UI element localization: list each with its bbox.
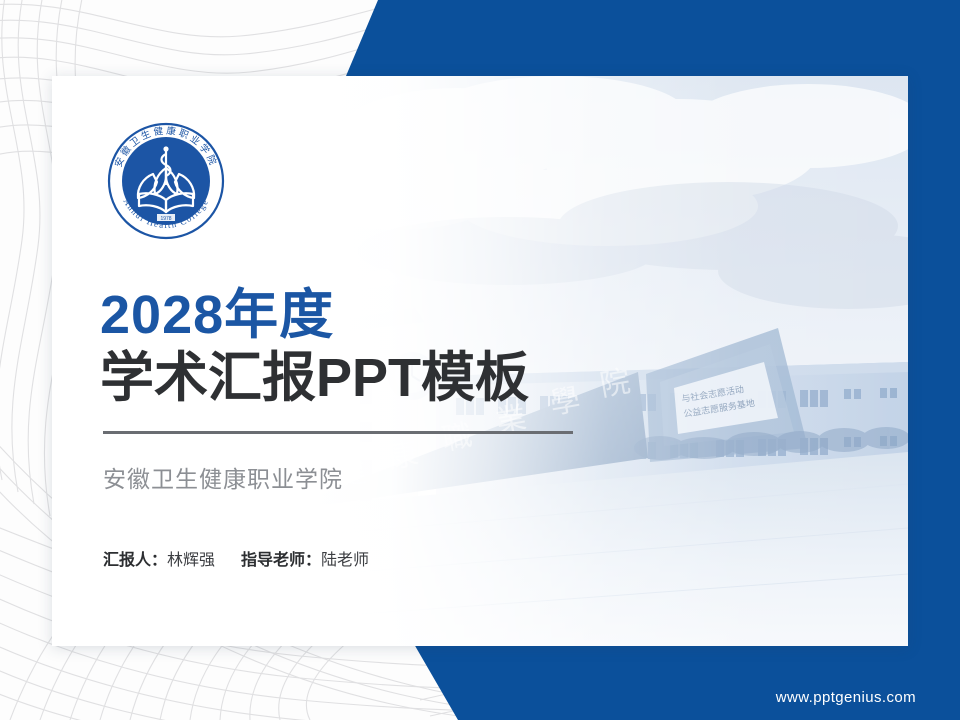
title-divider-rule xyxy=(103,431,573,434)
college-logo: 安徽卫生健康职业学院 Anhui Health College xyxy=(105,120,227,242)
advisor-name: 陆老师 xyxy=(321,552,369,569)
bottom-blue-band xyxy=(414,644,960,720)
presentation-slide: 健 康 職 業 學 院 与社会志愿活动 公益志愿服务基地 xyxy=(0,0,960,720)
right-blue-column xyxy=(908,0,960,720)
advisor-label: 指导老师： xyxy=(241,552,321,569)
svg-text:1978: 1978 xyxy=(160,216,171,222)
title-main: 学术汇报PPT模板 xyxy=(100,348,573,408)
presenter-meta-line: 汇报人：林辉强指导老师：陆老师 xyxy=(103,546,573,570)
top-blue-band xyxy=(346,0,960,76)
presenter-name: 林辉强 xyxy=(167,552,215,569)
title-year: 2028年度 xyxy=(100,286,573,344)
organization-name: 安徽卫生健康职业学院 xyxy=(103,460,573,494)
footer-website-url[interactable]: www.pptgenius.com xyxy=(776,689,916,706)
svg-text:院: 院 xyxy=(597,365,632,403)
presenter-label: 汇报人： xyxy=(103,552,167,569)
content-card: 健 康 職 業 學 院 与社会志愿活动 公益志愿服务基地 xyxy=(52,76,908,646)
title-text-block: 2028年度 学术汇报PPT模板 安徽卫生健康职业学院 汇报人：林辉强指导老师：… xyxy=(100,286,573,570)
